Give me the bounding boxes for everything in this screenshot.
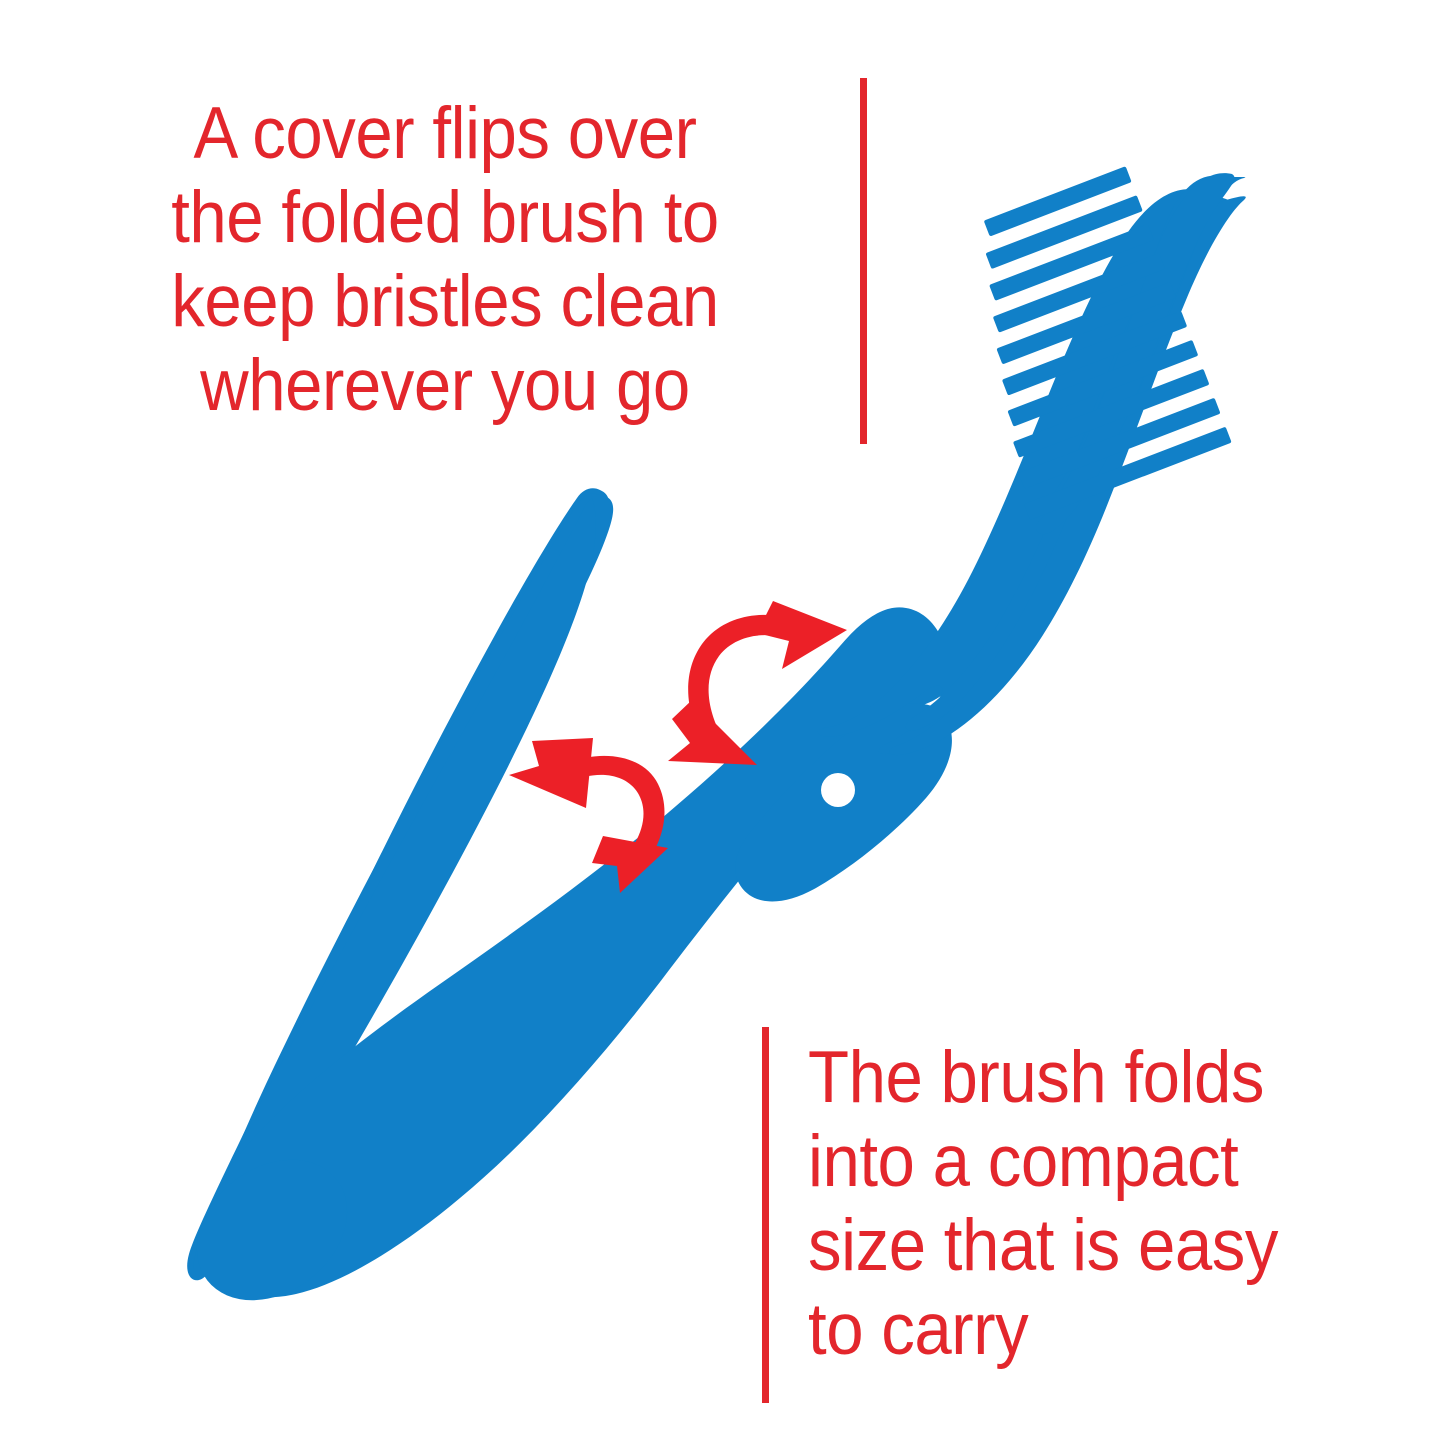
hinge-pivot-dot	[821, 773, 855, 807]
fold-arrow-lower-left	[509, 738, 668, 893]
infographic-canvas: A cover flips over the folded brush to k…	[0, 0, 1445, 1445]
caption-cover-flips: A cover flips over the folded brush to k…	[91, 92, 799, 428]
divider-rule-top	[860, 78, 867, 444]
caption-brush-folds: The brush folds into a compact size that…	[808, 1036, 1360, 1372]
divider-rule-bottom	[762, 1027, 769, 1403]
